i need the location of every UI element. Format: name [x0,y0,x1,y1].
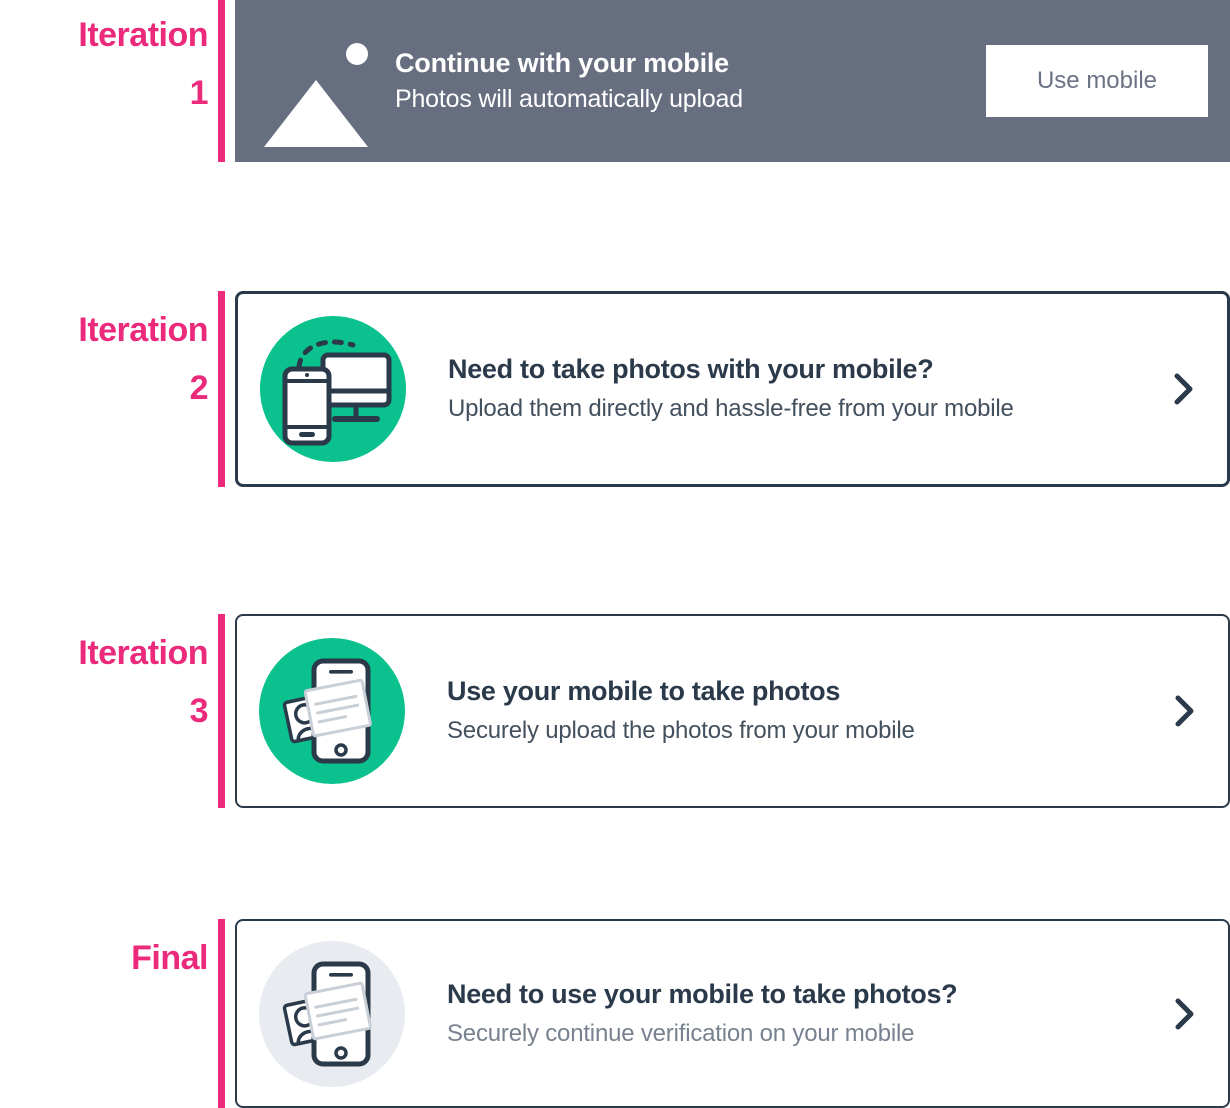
card-subtitle: Securely upload the photos from your mob… [447,711,1047,751]
card-title: Need to take photos with your mobile? [448,349,1143,389]
accent-bar-wrapper-final [208,919,235,1108]
mobile-photos-card-final[interactable]: Need to use your mobile to take photos? … [235,919,1230,1108]
iteration-label-line-primary: Iteration [78,6,208,64]
accent-bar-wrapper-3 [208,614,235,808]
chevron-right-icon[interactable] [1164,996,1204,1032]
iteration-comparison-board: Iteration 1 Continue with your mobile Ph… [0,0,1230,1108]
card-wrapper-1: Continue with your mobile Photos will au… [235,0,1230,162]
card-title: Need to use your mobile to take photos? [447,974,1144,1014]
accent-bar-wrapper-1 [208,0,235,162]
card-wrapper-3: Use your mobile to take photos Securely … [235,614,1230,808]
phone-with-document-icon [259,941,405,1087]
iteration-label-final: Final [0,919,208,1108]
card-text-block-2: Need to take photos with your mobile? Up… [406,349,1163,429]
iteration-label-line-primary: Final [131,929,208,987]
iteration-label-line-number: 3 [190,682,208,740]
chevron-right-icon[interactable] [1164,693,1204,729]
card-text-block-3: Use your mobile to take photos Securely … [405,671,1164,751]
accent-bar-1 [218,0,225,162]
accent-bar-wrapper-2 [208,291,235,487]
accent-bar-2 [218,291,225,487]
iteration-label-line-number: 1 [190,64,208,122]
banner-title: Continue with your mobile [395,45,986,81]
iteration-label-line-primary: Iteration [78,624,208,682]
banner-subtitle: Photos will automatically upload [395,81,986,117]
card-title: Use your mobile to take photos [447,671,1144,711]
card-wrapper-final: Need to use your mobile to take photos? … [235,919,1230,1108]
mobile-continue-banner[interactable]: Continue with your mobile Photos will au… [235,0,1230,162]
iteration-label-line-number: 2 [190,359,208,417]
phone-and-monitor-icon [260,316,406,462]
accent-bar-final [218,919,225,1108]
mobile-photos-card-v3[interactable]: Use your mobile to take photos Securely … [235,614,1230,808]
card-text-block-final: Need to use your mobile to take photos? … [405,974,1164,1054]
iteration-label-1: Iteration 1 [0,0,208,162]
iteration-row-final: Final [0,919,1230,1108]
banner-text-block: Continue with your mobile Photos will au… [385,45,986,117]
phone-with-document-icon [259,638,405,784]
chevron-right-icon[interactable] [1163,371,1203,407]
image-placeholder-icon [235,0,385,162]
use-mobile-button[interactable]: Use mobile [986,45,1208,117]
card-wrapper-2: Need to take photos with your mobile? Up… [235,291,1230,487]
card-subtitle: Upload them directly and hassle-free fro… [448,389,1048,429]
placeholder-sun-icon [346,43,368,65]
placeholder-mountain-icon [264,80,368,147]
iteration-row-1: Iteration 1 Continue with your mobile Ph… [0,0,1230,162]
mobile-photos-card-v2[interactable]: Need to take photos with your mobile? Up… [235,291,1230,487]
iteration-row-2: Iteration 2 [0,291,1230,487]
accent-bar-3 [218,614,225,808]
iteration-row-3: Iteration 3 [0,614,1230,808]
iteration-label-line-primary: Iteration [78,301,208,359]
iteration-label-2: Iteration 2 [0,291,208,487]
iteration-label-3: Iteration 3 [0,614,208,808]
card-subtitle: Securely continue verification on your m… [447,1014,1047,1054]
